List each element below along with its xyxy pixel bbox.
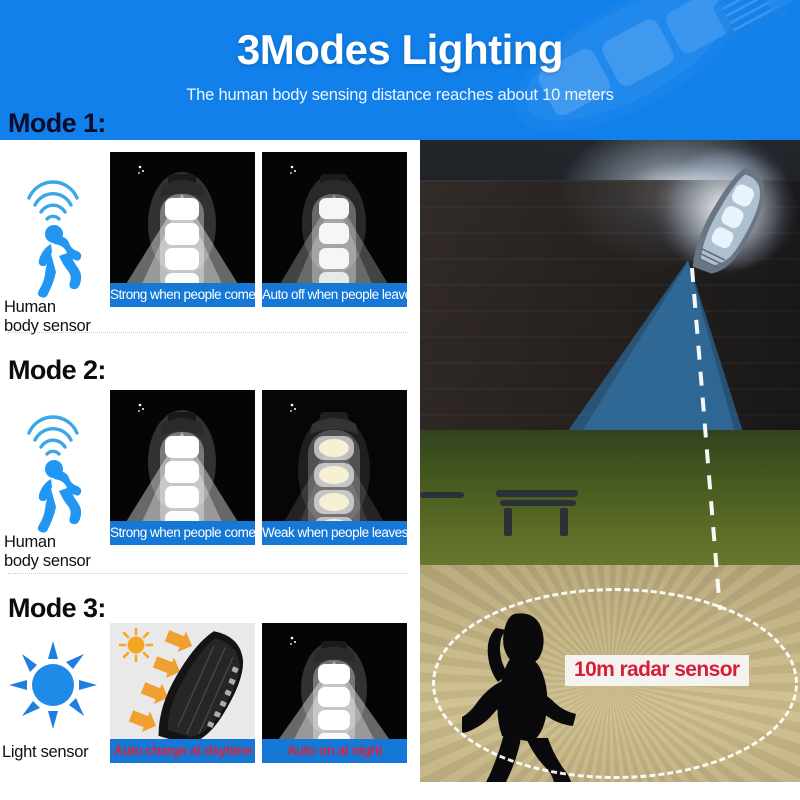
mode-3-title: Mode 3:: [8, 593, 106, 624]
mode-2-panel-weak-caption: Weak when people leaves: [262, 521, 407, 545]
human-body-radar-sensor-icon: [7, 393, 99, 533]
mode-3-block: Mode 3: Light sensor: [0, 585, 420, 800]
sensor-label-line-1: Human: [4, 533, 56, 551]
mode-1-panel-strong-caption: Strong when people comes: [110, 283, 255, 307]
mode-3-sensor-label: Light sensor: [0, 743, 106, 762]
mode-1-panel-autooff: Auto off when people leaves: [262, 152, 407, 307]
mode-2-block: Mode 2:: [0, 345, 420, 585]
night-park-radar-photo: [420, 140, 800, 800]
mode-3-panel-charge: Auto charge at daytime: [110, 623, 255, 763]
detection-dashed-line: [420, 140, 800, 800]
mode-1-sensor: Human body sensor: [0, 158, 106, 337]
page-title: 3Modes Lighting: [0, 26, 800, 74]
page-subtitle: The human body sensing distance reaches …: [0, 86, 800, 105]
mode-2-panel-weak: Weak when people leaves: [262, 390, 407, 545]
modes-column: Mode 1:: [0, 140, 420, 800]
radar-sensor-label: 10m radar sensor: [565, 655, 749, 686]
section-divider: [8, 332, 408, 333]
crescent-moon-icon: [270, 398, 298, 426]
mode-3-panel-night: Auto on at night: [262, 623, 407, 763]
sensor-label-line-2: body sensor: [4, 552, 91, 570]
mode-1-title: Mode 1:: [8, 108, 106, 139]
crescent-moon-icon: [118, 160, 146, 188]
mode-2-panel-strong-caption: Strong when people comes: [110, 521, 255, 545]
header-banner: 3Modes Lighting The human body sensing d…: [0, 0, 800, 140]
mode-3-panel-night-caption: Auto on at night: [262, 739, 407, 763]
mode-2-panel-strong: Strong when people comes: [110, 390, 255, 545]
mode-2-title: Mode 2:: [8, 355, 106, 386]
sun-icon: [120, 629, 152, 661]
mode-2-sensor: Human body sensor: [0, 393, 106, 572]
infographic-page: 3Modes Lighting The human body sensing d…: [0, 0, 800, 800]
mode-3-panel-charge-caption: Auto charge at daytime: [110, 739, 255, 763]
mode-2-sensor-label: Human body sensor: [0, 533, 106, 572]
mode-1-block: Mode 1:: [0, 140, 420, 345]
mode-1-panel-autooff-caption: Auto off when people leaves: [262, 283, 407, 307]
human-body-radar-sensor-icon: [7, 158, 99, 298]
crescent-moon-icon: [118, 398, 146, 426]
sun-light-sensor-icon: [7, 633, 99, 743]
section-divider: [8, 573, 408, 574]
crescent-moon-icon: [270, 160, 298, 188]
mode-1-panel-strong: Strong when people comes: [110, 152, 255, 307]
sensor-label-line-1: Human: [4, 298, 56, 316]
crescent-moon-icon: [270, 631, 298, 659]
mode-3-sensor: Light sensor: [0, 633, 106, 762]
